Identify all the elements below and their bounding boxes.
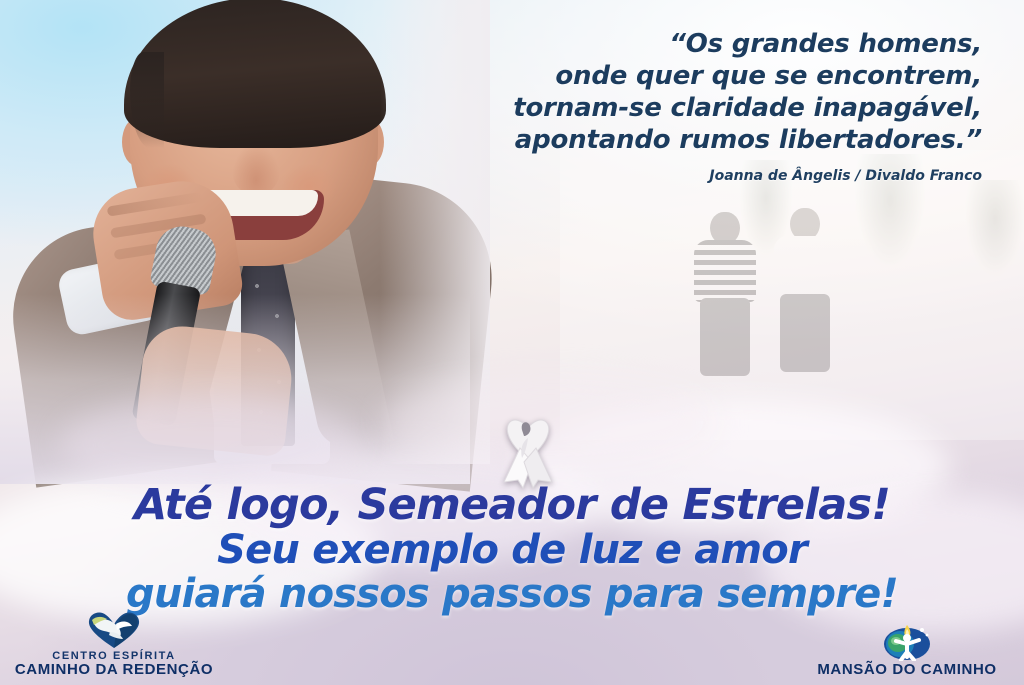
globe-figure-flame-icon — [796, 620, 1018, 660]
background-photo — [560, 150, 1024, 440]
headline-block: Até logo, Semeador de Estrelas! Seu exem… — [0, 482, 1024, 616]
quote-line-2: onde quer que se encontrem, — [422, 60, 982, 92]
heart-hands-icon — [8, 610, 220, 650]
quote-line-3: tornam-se claridade inapagável, — [422, 92, 982, 124]
portrait-divaldo-franco — [0, 0, 470, 464]
logo-right-line-1: MANSÃO DO CAMINHO — [796, 662, 1018, 679]
quote-author: Joanna de Ângelis / Divaldo Franco — [422, 168, 982, 184]
background-person-white — [770, 208, 840, 380]
logo-left-line-2: CAMINHO DA REDENÇÃO — [8, 662, 220, 679]
logo-centro-espirita: CENTRO ESPÍRITA CAMINHO DA REDENÇÃO — [8, 610, 220, 679]
headline-line-1: Até logo, Semeador de Estrelas! — [0, 482, 1024, 528]
quote-block: “Os grandes homens, onde quer que se enc… — [422, 28, 982, 184]
logo-mansao-do-caminho: MANSÃO DO CAMINHO — [796, 620, 1018, 679]
quote-line-1: “Os grandes homens, — [422, 28, 982, 60]
memorial-poster: “Os grandes homens, onde quer que se enc… — [0, 0, 1024, 685]
quote-line-4: apontando rumos libertadores.” — [422, 124, 982, 156]
portrait-hair — [124, 0, 386, 148]
headline-line-2: Seu exemplo de luz e amor — [0, 528, 1024, 572]
white-ribbon-icon — [496, 408, 560, 490]
background-person-striped — [690, 212, 760, 380]
